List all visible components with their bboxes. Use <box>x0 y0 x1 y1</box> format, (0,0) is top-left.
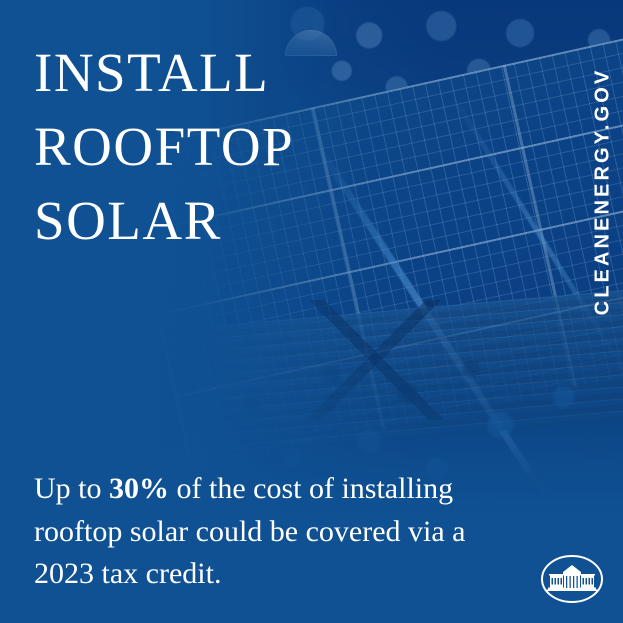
site-url-label: CLEANENERGY.GOV <box>592 68 615 316</box>
site-url-vertical[interactable]: CLEANENERGY.GOV <box>583 40 623 340</box>
headline-line-3: Solar <box>34 176 464 250</box>
headline-line-2: Rooftop <box>34 102 464 176</box>
white-house-seal <box>540 554 604 604</box>
body-copy-highlight: 30% <box>109 472 169 505</box>
body-copy-part-1: Up to <box>34 472 109 505</box>
body-copy: Up to 30% of the cost of installing roof… <box>34 468 514 596</box>
poster-canvas: Install Rooftop Solar CLEANENERGY.GOV Up… <box>0 0 623 623</box>
headline: Install Rooftop Solar <box>34 28 464 250</box>
headline-line-1: Install <box>34 28 464 102</box>
